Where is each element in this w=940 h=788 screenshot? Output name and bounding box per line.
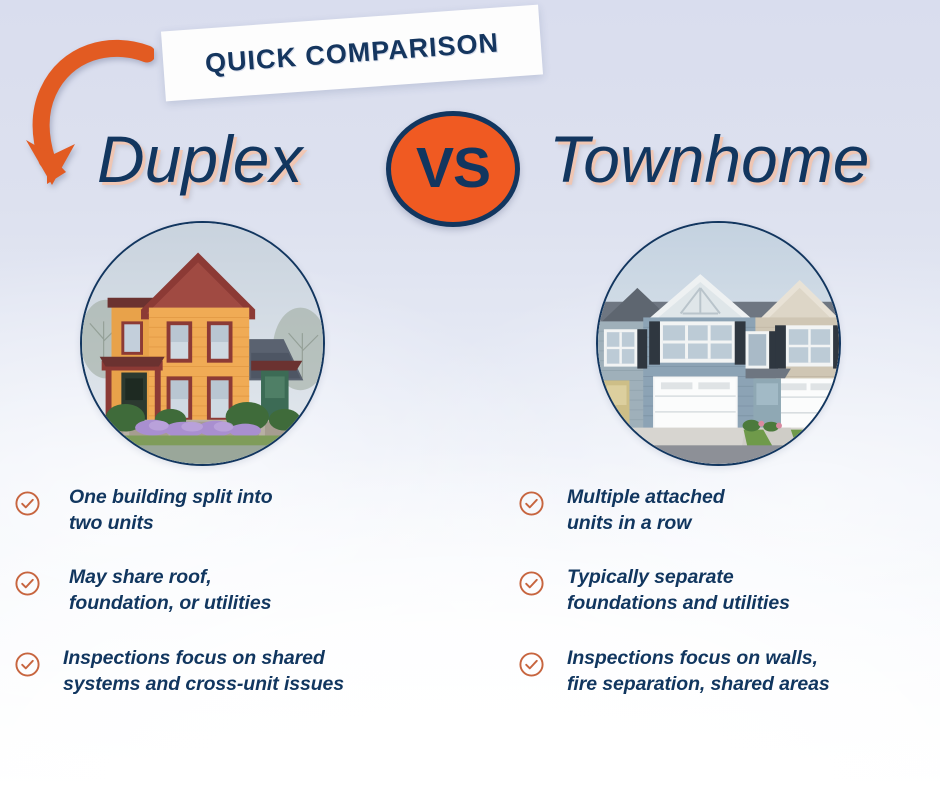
check-circle-icon (518, 490, 545, 517)
duplex-features: One building split into two units May sh… (14, 485, 454, 697)
banner-label: QUICK COMPARISON (204, 27, 500, 79)
check-circle-icon (518, 570, 545, 597)
vs-circle: VS (386, 111, 520, 227)
vs-label: VS (416, 140, 490, 197)
check-circle-icon (14, 651, 41, 678)
list-item-label: Inspections focus on shared systems and … (63, 646, 344, 697)
quick-comparison-banner: QUICK COMPARISON (161, 5, 543, 102)
list-item: Multiple attached units in a row (518, 485, 940, 536)
check-circle-icon (518, 651, 545, 678)
list-item-label: One building split into two units (69, 485, 273, 536)
duplex-house-photo (80, 221, 325, 466)
page-title-townhome: Townhome (549, 121, 869, 197)
list-item-label: Inspections focus on walls, fire separat… (567, 646, 830, 697)
infographic-canvas: QUICK COMPARISON Duplex VS Townhome (0, 0, 940, 788)
page-title-duplex: Duplex (97, 121, 302, 197)
list-item-label: Typically separate foundations and utili… (567, 565, 790, 616)
list-item: Typically separate foundations and utili… (518, 565, 940, 616)
list-item-label: May share roof, foundation, or utilities (69, 565, 271, 616)
townhome-row-photo (596, 221, 841, 466)
list-item: May share roof, foundation, or utilities (14, 565, 454, 616)
check-circle-icon (14, 490, 41, 517)
townhome-features: Multiple attached units in a row Typical… (518, 485, 940, 697)
check-circle-icon (14, 570, 41, 597)
list-item-label: Multiple attached units in a row (567, 485, 725, 536)
vs-badge: VS (386, 111, 520, 227)
list-item: Inspections focus on shared systems and … (14, 646, 454, 697)
list-item: Inspections focus on walls, fire separat… (518, 646, 940, 697)
list-item: One building split into two units (14, 485, 454, 536)
